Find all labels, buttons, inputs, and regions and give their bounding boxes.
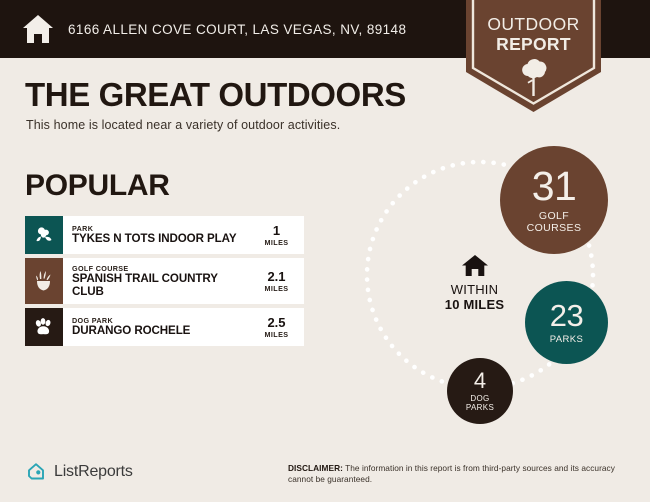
within-line2: 10 MILES: [412, 297, 537, 312]
list-item-name: SPANISH TRAIL COUNTRY CLUB: [72, 273, 248, 298]
distance-unit: MILES: [265, 238, 289, 247]
stat-circle-parks[interactable]: 23 PARKS: [525, 281, 608, 364]
golf-hole-icon: [34, 270, 54, 292]
list-item-distance: 2.1 MILES: [252, 258, 304, 304]
list-item-distance: 1 MILES: [252, 216, 304, 254]
paw-print-icon-box: [25, 308, 63, 346]
stat-label: GOLF COURSES: [527, 210, 582, 234]
distance-value: 2.1: [267, 270, 285, 284]
logo-wordmark: ListReports: [54, 463, 133, 481]
list-item[interactable]: DOG PARK DURANGO ROCHELE 2.5 MILES: [25, 308, 304, 346]
within-line1: WITHIN: [412, 283, 537, 297]
list-item-text: DOG PARK DURANGO ROCHELE: [63, 308, 252, 346]
paw-print-icon: [33, 316, 55, 338]
park-tree-icon: [34, 225, 54, 245]
popular-list: PARK TYKES N TOTS INDOOR PLAY 1 MILES GO…: [25, 216, 304, 350]
list-item-text: PARK TYKES N TOTS INDOOR PLAY: [63, 216, 252, 254]
page-title: THE GREAT OUTDOORS: [25, 76, 406, 114]
stat-value: 4: [474, 370, 486, 392]
page-subtitle: This home is located near a variety of o…: [26, 118, 340, 132]
listreports-logo[interactable]: ListReports: [25, 461, 133, 483]
park-tree-icon-box: [25, 216, 63, 254]
disclaimer: DISCLAIMER: The information in this repo…: [288, 463, 635, 484]
stat-label-line1: GOLF: [527, 210, 582, 222]
list-item-text: GOLF COURSE SPANISH TRAIL COUNTRY CLUB: [63, 258, 252, 304]
stat-label-line1: DOG: [466, 394, 494, 404]
distance-unit: MILES: [265, 284, 289, 293]
list-item[interactable]: PARK TYKES N TOTS INDOOR PLAY 1 MILES: [25, 216, 304, 254]
stat-circle-dog-parks[interactable]: 4 DOG PARKS: [447, 358, 513, 424]
outdoor-stats-diagram: 31 GOLF COURSES 23 PARKS 4 DOG PARKS WIT…: [355, 140, 650, 435]
popular-heading: POPULAR: [25, 169, 170, 203]
stat-label: PARKS: [550, 334, 584, 345]
listreports-house-icon: [25, 461, 47, 483]
outdoor-report-badge: OUTDOOR REPORT: [466, 0, 601, 112]
stat-label: DOG PARKS: [466, 394, 494, 413]
stat-value: 23: [550, 301, 583, 331]
badge-shape: [466, 0, 601, 112]
home-icon: [22, 14, 54, 44]
stat-label-line2: COURSES: [527, 222, 582, 234]
stat-value: 31: [532, 167, 577, 206]
distance-value: 2.5: [267, 316, 285, 330]
list-item-name: TYKES N TOTS INDOOR PLAY: [72, 233, 236, 246]
golf-hole-icon-box: [25, 258, 63, 304]
within-radius-callout: WITHIN 10 MILES: [412, 255, 537, 312]
list-item-distance: 2.5 MILES: [252, 308, 304, 346]
property-address: 6166 ALLEN COVE COURT, LAS VEGAS, NV, 89…: [68, 22, 406, 37]
list-item[interactable]: GOLF COURSE SPANISH TRAIL COUNTRY CLUB 2…: [25, 258, 304, 304]
stat-circle-golf-courses[interactable]: 31 GOLF COURSES: [500, 146, 608, 254]
distance-unit: MILES: [265, 330, 289, 339]
home-icon: [462, 255, 488, 277]
disclaimer-label: DISCLAIMER:: [288, 463, 343, 473]
list-item-name: DURANGO ROCHELE: [72, 325, 190, 338]
distance-value: 1: [273, 224, 280, 238]
stat-label-line2: PARKS: [466, 403, 494, 413]
